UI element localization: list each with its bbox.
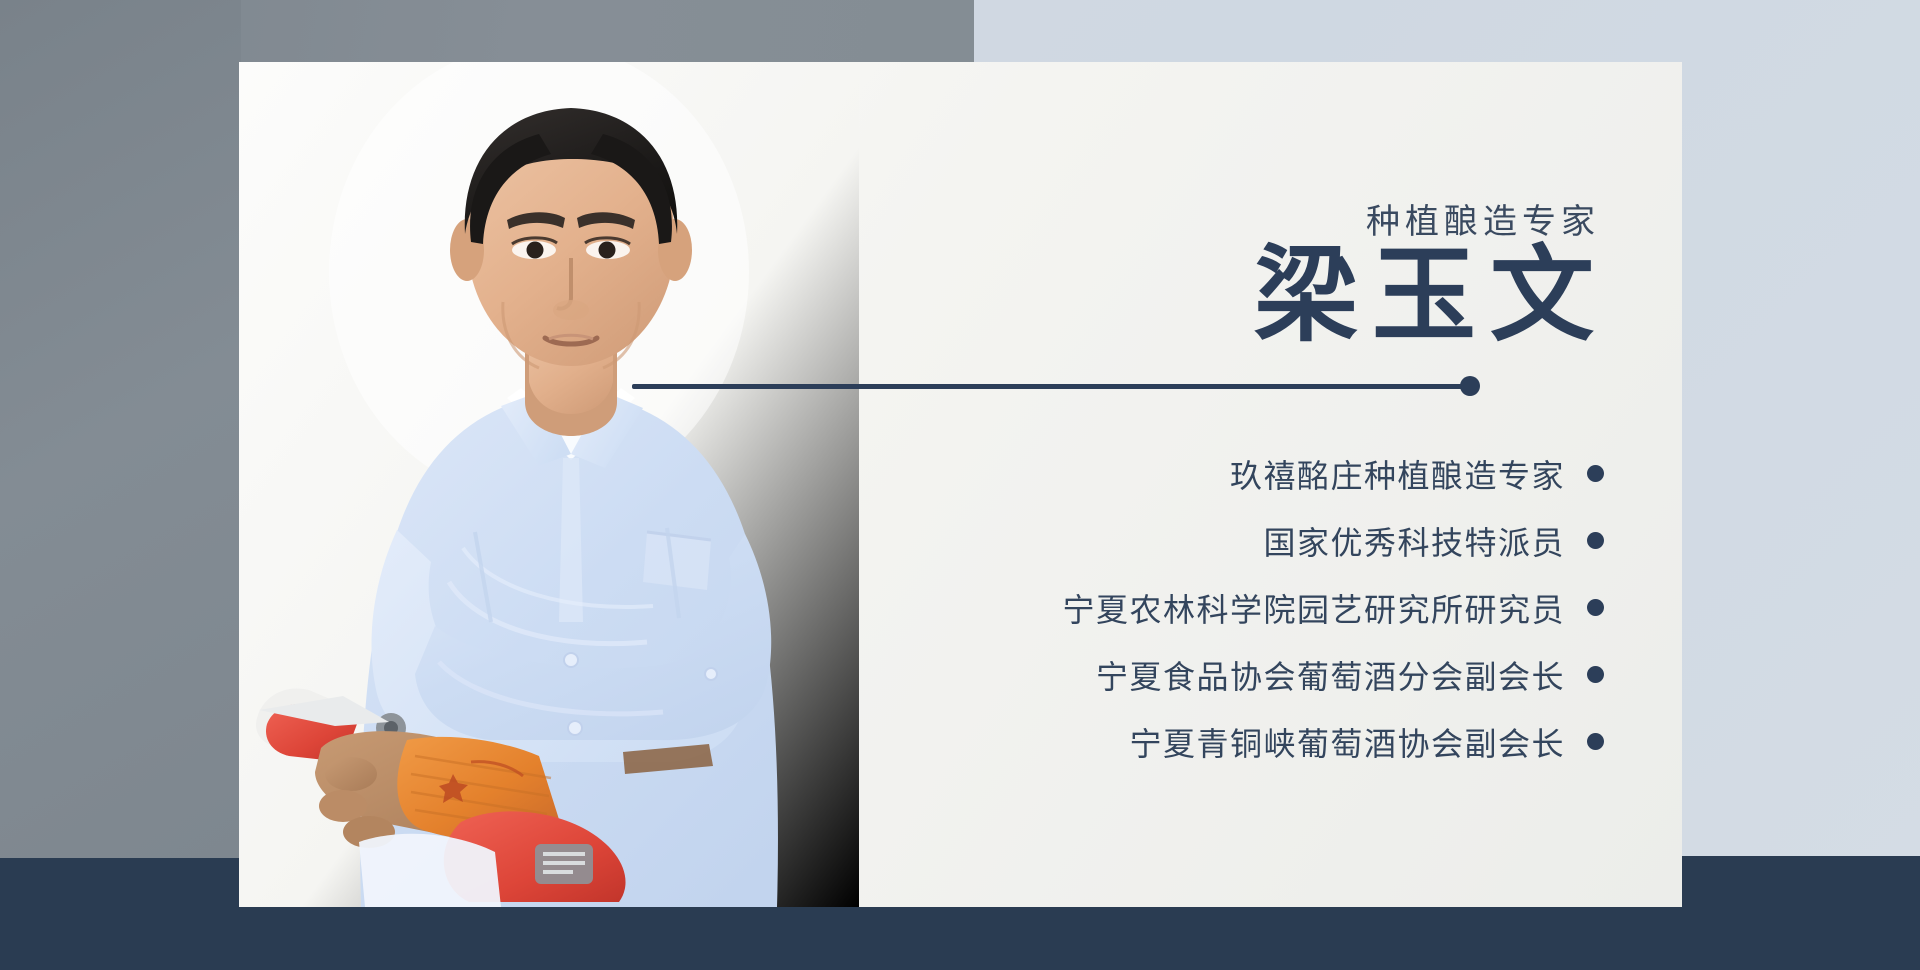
list-item: 国家优秀科技特派员	[1263, 507, 1604, 574]
credential-label: 宁夏青铜峡葡萄酒协会副会长	[1129, 719, 1565, 765]
credential-label: 宁夏农林科学院园艺研究所研究员	[1062, 585, 1565, 631]
bullet-dot-icon	[1587, 465, 1604, 482]
profile-name: 梁玉文	[1254, 242, 1608, 351]
bullet-dot-icon	[1587, 599, 1604, 616]
list-item: 宁夏青铜峡葡萄酒协会副会长	[1129, 708, 1604, 775]
profile-text-column: 种植酿造专家 梁玉文 玖禧酩庄种植酿造专家 国家优秀科技特派员 宁夏农林科学院园…	[760, 62, 1682, 907]
list-item: 宁夏农林科学院园艺研究所研究员	[1062, 574, 1604, 641]
list-item: 玖禧酩庄种植酿造专家	[1230, 440, 1604, 507]
divider-line	[632, 384, 1474, 389]
divider-end-dot	[1460, 376, 1480, 396]
profile-eyebrow: 种植酿造专家	[1366, 194, 1600, 243]
list-item: 宁夏食品协会葡萄酒分会副会长	[1096, 641, 1604, 708]
credential-label: 宁夏食品协会葡萄酒分会副会长	[1096, 652, 1565, 698]
bullet-dot-icon	[1587, 532, 1604, 549]
bullet-dot-icon	[1587, 666, 1604, 683]
credential-label: 国家优秀科技特派员	[1263, 518, 1565, 564]
background-gray-left-panel	[0, 0, 241, 858]
credentials-list: 玖禧酩庄种植酿造专家 国家优秀科技特派员 宁夏农林科学院园艺研究所研究员 宁夏食…	[744, 440, 1604, 775]
bullet-dot-icon	[1587, 733, 1604, 750]
credential-label: 玖禧酩庄种植酿造专家	[1230, 451, 1565, 497]
background-navy-right-block	[1681, 856, 1920, 970]
poster-stage: 种植酿造专家 梁玉文 玖禧酩庄种植酿造专家 国家优秀科技特派员 宁夏农林科学院园…	[0, 0, 1920, 970]
